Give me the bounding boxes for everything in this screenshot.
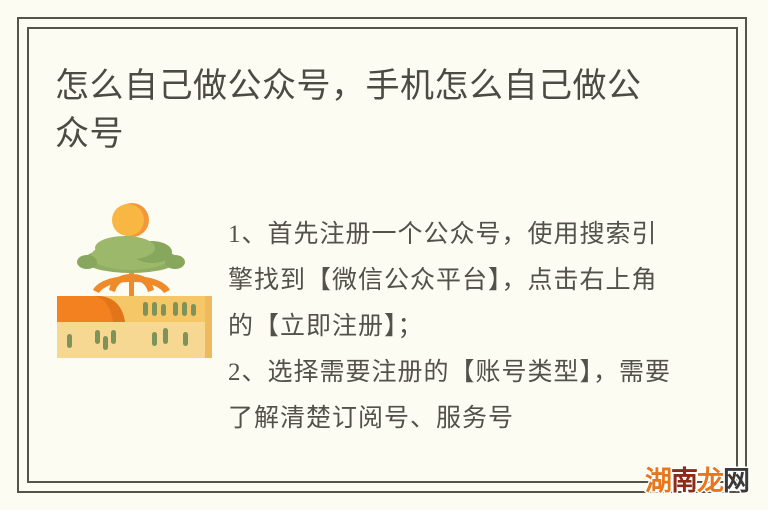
page-title: 怎么自己做公众号，手机怎么自己做公众号 — [55, 62, 665, 158]
watermark-char-3: 龙 — [697, 466, 723, 496]
ground-layers — [57, 296, 212, 358]
sun-icon — [112, 203, 149, 237]
article-paragraph-2: 2、选择需要注册的【账号类型】，需要了解清楚订阅号、服务号 — [228, 350, 676, 442]
watermark-char-4: 网 — [723, 466, 749, 496]
article-paragraph-1: 1、首先注册一个公众号，使用搜索引擎找到【微信公众平台】，点击右上角的【立即注册… — [228, 212, 676, 350]
savanna-illustration — [57, 198, 212, 360]
watermark-char-2: 南 — [671, 466, 697, 496]
page-root: 怎么自己做公众号，手机怎么自己做公众号 — [0, 0, 768, 510]
site-watermark: 湖南龙网 — [645, 466, 749, 496]
article-body: 1、首先注册一个公众号，使用搜索引擎找到【微信公众平台】，点击右上角的【立即注册… — [228, 212, 676, 464]
savanna-illustration-svg — [57, 198, 212, 360]
watermark-char-1: 湖 — [645, 466, 671, 496]
